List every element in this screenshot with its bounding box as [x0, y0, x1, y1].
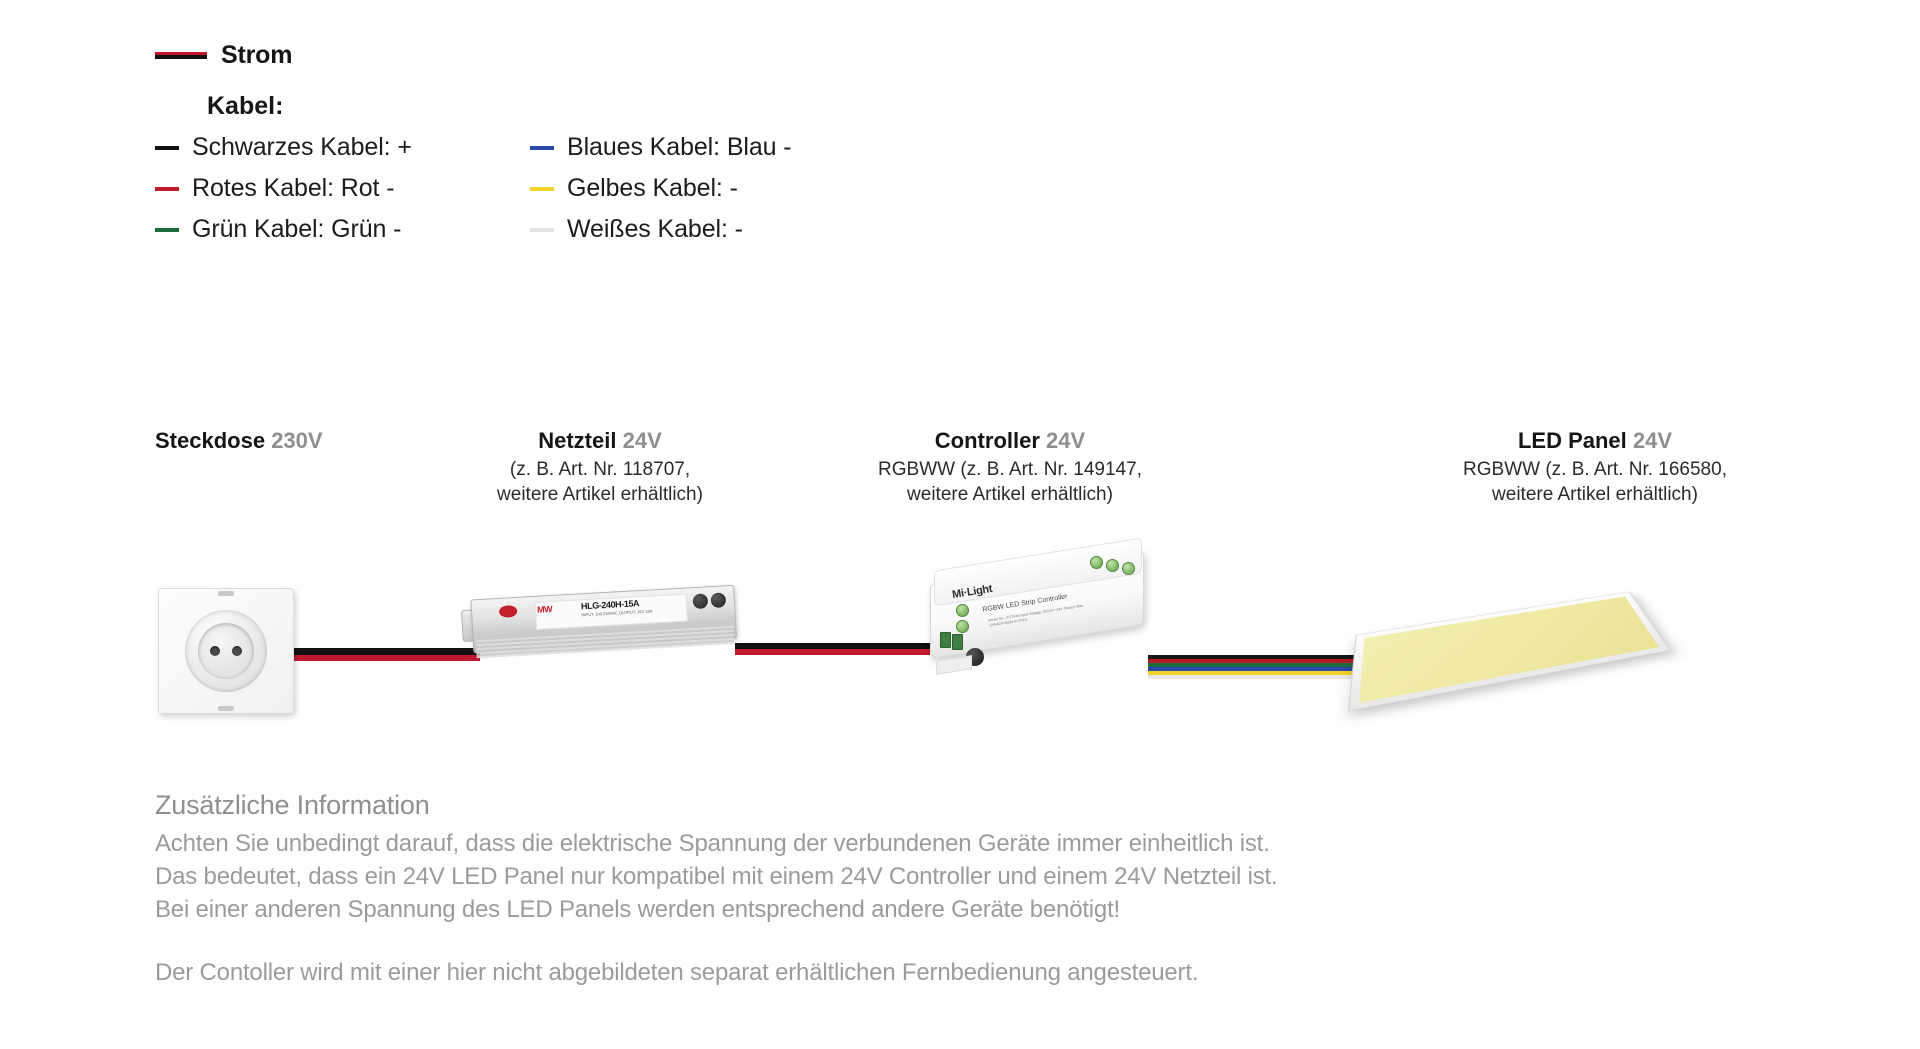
socket-hole-right-icon: [232, 646, 242, 656]
steckdose-image: [158, 588, 294, 714]
legend-power-row: Strom: [155, 40, 792, 70]
caption-led-panel-sub1: RGBWW (z. B. Art. Nr. 166580,: [1365, 457, 1825, 482]
caption-led-panel-sub2: weitere Artikel erhältlich): [1365, 482, 1825, 507]
caption-led-panel: LED Panel 24V RGBWW (z. B. Art. Nr. 1665…: [1365, 428, 1825, 507]
legend-cable-grid: Schwarzes Kabel: + Blaues Kabel: Blau - …: [155, 127, 792, 250]
caption-steckdose: Steckdose 230V: [155, 428, 323, 454]
socket-earth-clip-top: [218, 591, 234, 596]
caption-steckdose-voltage: 230V: [271, 428, 322, 453]
caption-netzteil: Netzteil 24V (z. B. Art. Nr. 118707, wei…: [400, 428, 800, 507]
caption-controller-voltage: 24V: [1046, 428, 1085, 453]
legend-cable-red-label: Rotes Kabel: Rot -: [192, 174, 394, 203]
netzteil-image: MW HLG-240H-15A INPUT: 100-240VAC OUTPUT…: [470, 577, 742, 672]
info-p1-line3: Bei einer anderen Spannung des LED Panel…: [155, 896, 1120, 923]
caption-controller-sub2: weitere Artikel erhältlich): [790, 482, 1230, 507]
caption-controller-name: Controller: [935, 428, 1040, 453]
legend-cable-black: Schwarzes Kabel: +: [155, 127, 530, 168]
black-cable-swatch-icon: [155, 146, 179, 150]
legend-power-label: Strom: [221, 41, 292, 70]
psu-brand-label: MW: [537, 604, 553, 615]
controller-terminal-screw-2-icon: [1106, 559, 1119, 572]
caption-netzteil-sub1: (z. B. Art. Nr. 118707,: [400, 457, 800, 482]
legend-cable-title: Kabel:: [207, 92, 792, 121]
caption-netzteil-sub2: weitere Artikel erhältlich): [400, 482, 800, 507]
socket-inner: [198, 623, 254, 679]
wire-controller-to-panel-ribbon: [1148, 655, 1363, 679]
white-cable-swatch-icon: [530, 228, 554, 232]
yellow-cable-swatch-icon: [530, 187, 554, 191]
legend-cable-blue-label: Blaues Kabel: Blau -: [567, 133, 792, 162]
legend-cable-yellow: Gelbes Kabel: -: [530, 168, 792, 209]
info-p1-line1: Achten Sie unbedingt darauf, dass die el…: [155, 830, 1270, 857]
controller-terminal-screw-1-icon: [1090, 556, 1103, 569]
controller-mounting-foot: [936, 655, 972, 675]
legend-cable-blue: Blaues Kabel: Blau -: [530, 127, 792, 168]
controller-image: Mi·Light RGBW LED Strip Controller Model…: [930, 548, 1170, 678]
green-cable-swatch-icon: [155, 228, 179, 232]
red-cable-swatch-icon: [155, 187, 179, 191]
ribbon-wire-white: [1148, 675, 1363, 679]
controller-terminal-screw-3-icon: [1122, 562, 1135, 575]
info-paragraph-2: Der Contoller wird mit einer hier nicht …: [155, 956, 1655, 989]
caption-controller: Controller 24V RGBWW (z. B. Art. Nr. 149…: [790, 428, 1230, 507]
wire-socket-to-psu-red: [290, 655, 480, 661]
additional-information-section: Zusätzliche Information Achten Sie unbed…: [155, 790, 1655, 989]
blue-cable-swatch-icon: [530, 146, 554, 150]
legend-cable-white-label: Weißes Kabel: -: [567, 215, 743, 244]
led-panel-image: [1355, 580, 1665, 705]
legend-cable-red: Rotes Kabel: Rot -: [155, 168, 530, 209]
legend-cable-green-label: Grün Kabel: Grün -: [192, 215, 401, 244]
controller-input-terminal-2: [952, 634, 963, 650]
power-line-swatch-icon: [155, 52, 207, 59]
wire-socket-to-psu-black: [290, 648, 480, 655]
caption-netzteil-voltage: 24V: [623, 428, 662, 453]
controller-input-terminal-1: [940, 632, 951, 648]
caption-led-panel-voltage: 24V: [1633, 428, 1672, 453]
info-heading: Zusätzliche Information: [155, 790, 1655, 821]
info-p1-line2: Das bedeutet, dass ein 24V LED Panel nur…: [155, 863, 1277, 890]
legend-cable-yellow-label: Gelbes Kabel: -: [567, 174, 738, 203]
info-paragraph-1: Achten Sie unbedingt darauf, dass die el…: [155, 827, 1655, 926]
caption-led-panel-name: LED Panel: [1518, 428, 1627, 453]
socket-earth-clip-bottom: [218, 706, 234, 711]
socket-hole-left-icon: [210, 646, 220, 656]
legend-cable-white: Weißes Kabel: -: [530, 209, 792, 250]
caption-netzteil-name: Netzteil: [538, 428, 616, 453]
caption-controller-sub1: RGBWW (z. B. Art. Nr. 149147,: [790, 457, 1230, 482]
controller-terminal-screw-4-icon: [956, 604, 969, 617]
psu-heatsink-fins: [476, 624, 735, 658]
wire-psu-to-controller-red: [735, 649, 930, 655]
caption-steckdose-name: Steckdose: [155, 428, 265, 453]
controller-terminal-screw-5-icon: [956, 620, 969, 633]
legend-cable-black-label: Schwarzes Kabel: +: [192, 133, 412, 162]
legend: Strom Kabel: Schwarzes Kabel: + Blaues K…: [155, 40, 792, 250]
legend-cable-green: Grün Kabel: Grün -: [155, 209, 530, 250]
